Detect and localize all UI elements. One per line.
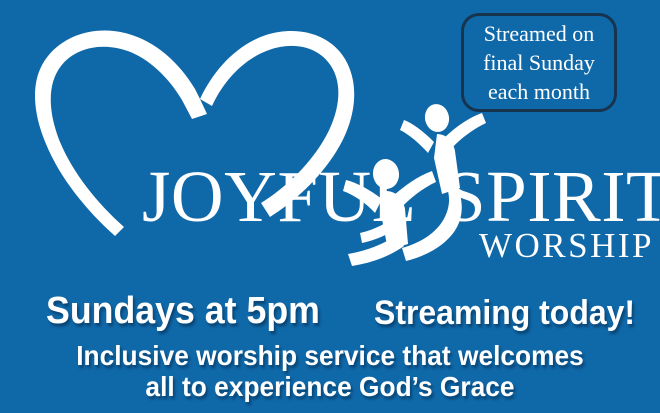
service-time-text: Sundays at 5pm [46,292,320,330]
logo-word-worship: WORSHIP [479,228,654,263]
poster-canvas: JOYFUL SPIRIT WORSHIP Streamed on final … [0,0,660,413]
badge-line-2: final Sunday [483,48,595,77]
logo-word-spirit: SPIRIT [445,160,660,233]
description-line-1: Inclusive worship service that welcomes [76,342,584,370]
logo-word-joyful: JOYFUL [142,160,417,233]
streaming-today-text: Streaming today! [374,296,635,330]
badge-line-3: each month [488,77,590,106]
streaming-schedule-badge: Streamed on final Sunday each month [461,13,617,112]
badge-line-1: Streamed on [484,19,595,48]
description-line-2: all to experience God’s Grace [145,373,514,401]
